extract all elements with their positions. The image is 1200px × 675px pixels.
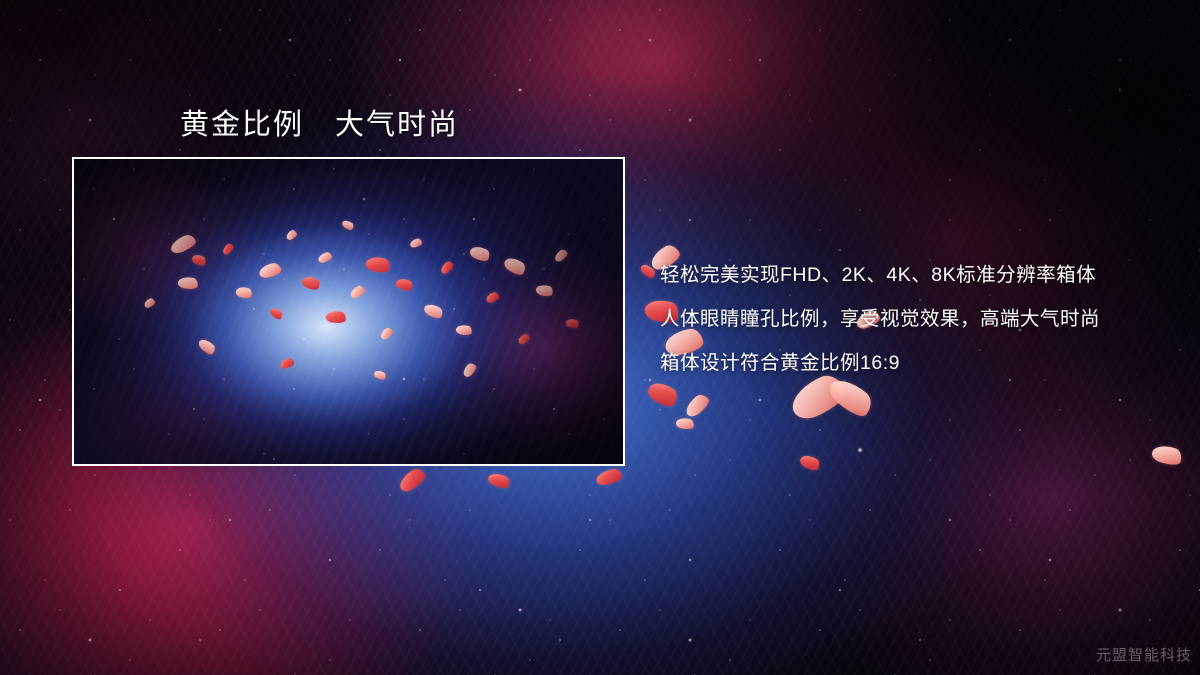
body-line-2: 人体眼睛瞳孔比例，享受视觉效果，高端大气时尚	[660, 297, 1160, 341]
presentation-slide: 黄金比例 大气时尚 轻松完美实现FHD、2K、4K、8K标准分辨率箱体 人体眼睛…	[0, 0, 1200, 675]
frame-vignette	[74, 159, 623, 464]
page-title: 黄金比例 大气时尚	[180, 101, 459, 143]
body-line-3: 箱体设计符合黄金比例16:9	[660, 341, 1160, 385]
picture-frame-content	[74, 159, 623, 464]
body-line-1: 轻松完美实现FHD、2K、4K、8K标准分辨率箱体	[660, 253, 1160, 297]
body-copy-block: 轻松完美实现FHD、2K、4K、8K标准分辨率箱体 人体眼睛瞳孔比例，享受视觉效…	[660, 253, 1160, 385]
watermark-brand: 元盟智能科技	[1096, 644, 1192, 665]
picture-frame-16x9	[72, 157, 625, 466]
